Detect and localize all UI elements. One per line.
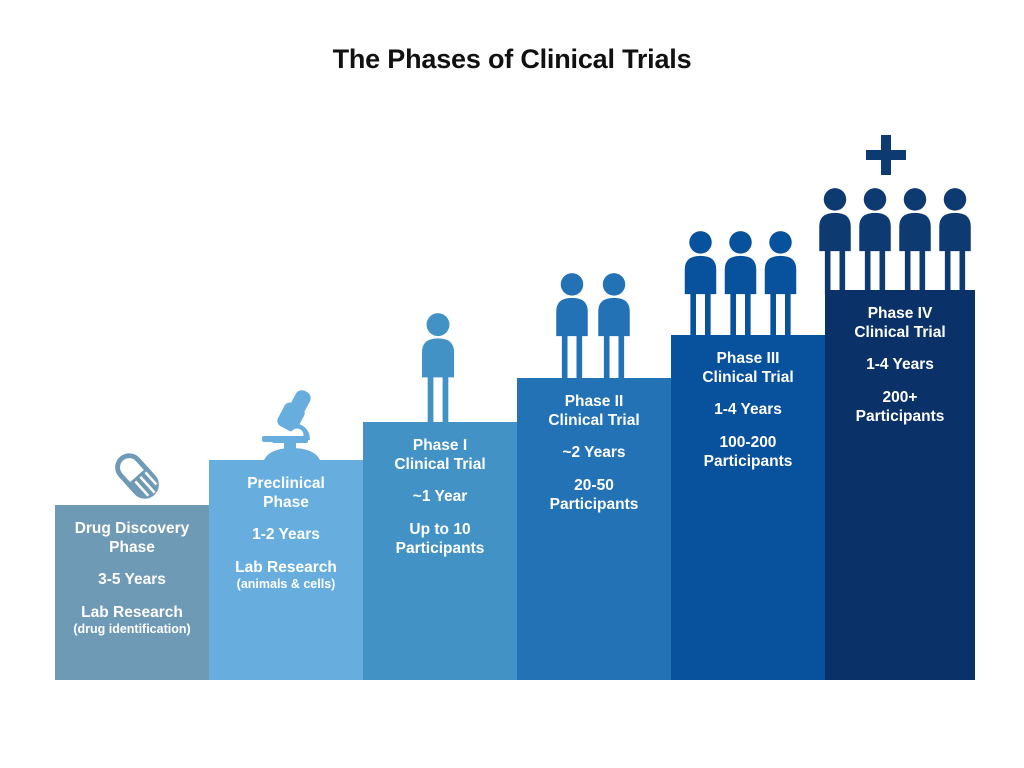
step-title-line1: Preclinical [209,474,363,493]
step-phase-4[interactable]: Phase IV Clinical Trial 1-4 Years 200+ P… [825,290,975,680]
person-icon [718,230,763,338]
step-duration: 1-4 Years [825,355,975,374]
person-group-phase-1 [400,312,475,422]
step-detail-sub: Participants [363,539,517,558]
step-detail-main: Up to 10 [363,520,517,539]
step-title-line2: Clinical Trial [671,368,825,387]
step-text-block: Phase II Clinical Trial ~2 Years 20-50 P… [517,392,671,514]
step-detail-main: Lab Research [209,558,363,577]
person-group-phase-3 [678,228,803,338]
step-title-line1: Drug Discovery [55,519,209,538]
person-group-phase-4 [810,185,980,295]
step-duration: 3-5 Years [55,570,209,589]
step-detail-main: 100-200 [671,433,825,452]
infographic-canvas: The Phases of Clinical Trials [0,0,1024,768]
step-phase-3[interactable]: Phase III Clinical Trial 1-4 Years 100-2… [671,335,825,680]
step-drug-discovery[interactable]: Drug Discovery Phase 3-5 Years Lab Resea… [55,505,209,680]
step-detail-sub: Participants [517,495,671,514]
step-title-line2: Phase [209,493,363,512]
step-title-line1: Phase I [363,436,517,455]
page-title: The Phases of Clinical Trials [0,44,1024,75]
person-icon [549,272,595,380]
step-title-line1: Phase III [671,349,825,368]
step-title-line2: Clinical Trial [517,411,671,430]
step-detail-main: 200+ [825,388,975,407]
step-duration: 1-4 Years [671,400,825,419]
step-text-block: Phase III Clinical Trial 1-4 Years 100-2… [671,349,825,471]
step-title-line1: Phase II [517,392,671,411]
pill-capsule-icon-wrap [102,443,172,507]
medical-plus-icon-wrap [862,131,910,179]
step-detail-sub: (animals & cells) [209,577,363,593]
step-detail-sub: Participants [825,407,975,426]
microscope-icon [250,388,336,462]
step-title-line2: Clinical Trial [825,323,975,342]
step-text-block: Drug Discovery Phase 3-5 Years Lab Resea… [55,519,209,637]
person-icon [591,272,637,380]
step-title-line1: Phase IV [825,304,975,323]
person-icon [678,230,723,338]
person-icon [758,230,803,338]
step-phase-2[interactable]: Phase II Clinical Trial ~2 Years 20-50 P… [517,378,671,680]
step-title-line2: Clinical Trial [363,455,517,474]
step-text-block: Phase I Clinical Trial ~1 Year Up to 10 … [363,436,517,558]
step-text-block: Preclinical Phase 1-2 Years Lab Research… [209,474,363,592]
step-detail-main: 20-50 [517,476,671,495]
person-icon [415,312,461,422]
microscope-icon-wrap [248,388,338,462]
step-title-line2: Phase [55,538,209,557]
step-phase-1[interactable]: Phase I Clinical Trial ~1 Year Up to 10 … [363,422,517,680]
person-icon [932,187,978,295]
step-duration: ~1 Year [363,487,517,506]
step-detail-sub: (drug identification) [55,622,209,638]
step-preclinical[interactable]: Preclinical Phase 1-2 Years Lab Research… [209,460,363,680]
step-text-block: Phase IV Clinical Trial 1-4 Years 200+ P… [825,304,975,426]
step-detail-sub: Participants [671,452,825,471]
pill-capsule-icon [106,445,168,507]
person-group-phase-2 [545,270,640,380]
step-duration: ~2 Years [517,443,671,462]
step-duration: 1-2 Years [209,525,363,544]
step-detail-main: Lab Research [55,603,209,622]
medical-plus-icon [862,131,910,179]
